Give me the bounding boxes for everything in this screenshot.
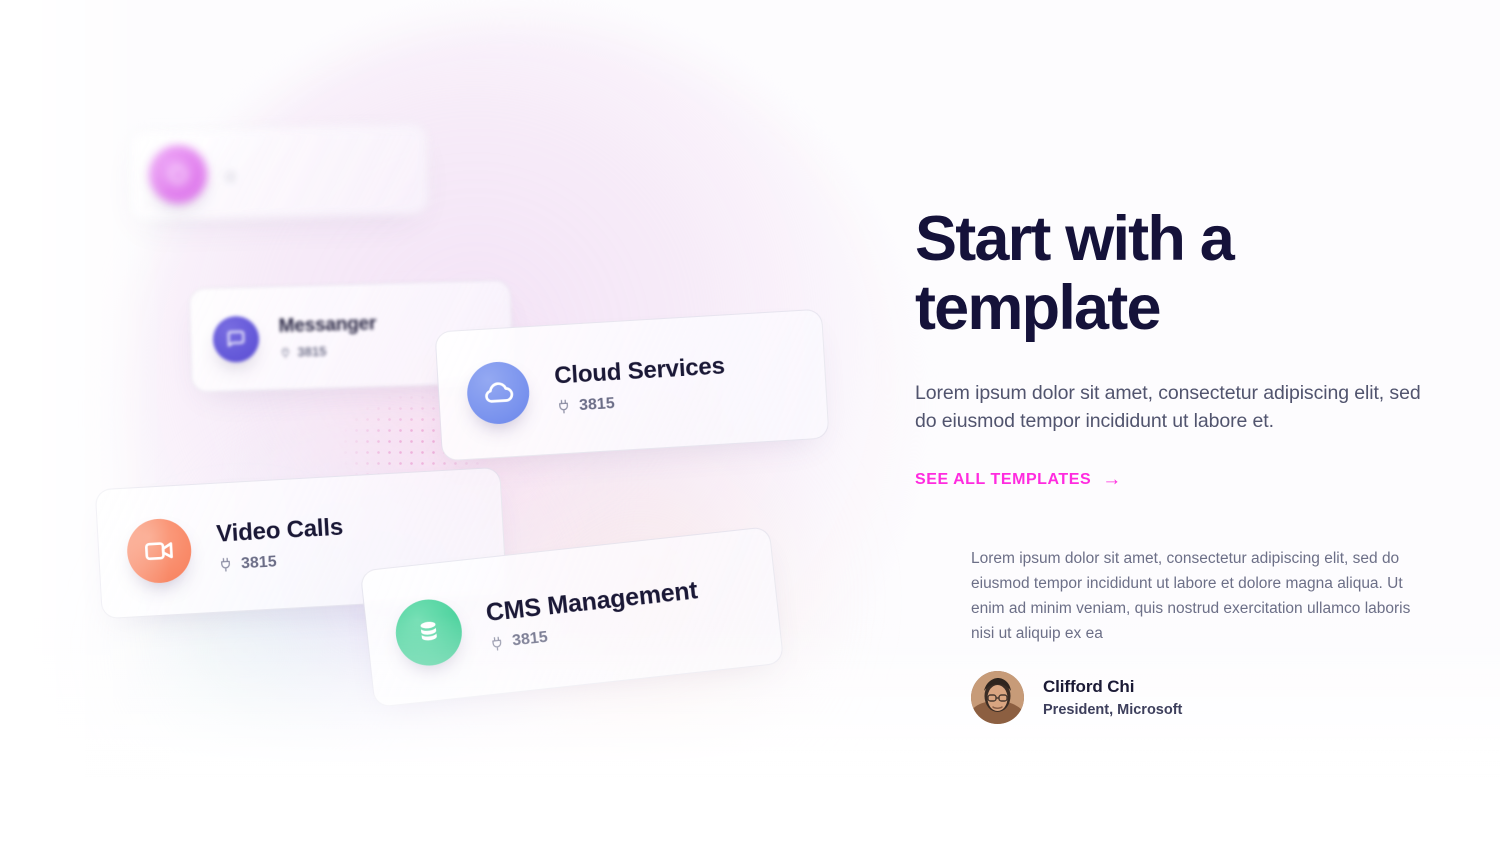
headline-line-1: Start with a <box>915 204 1233 274</box>
author-name: Clifford Chi <box>1043 677 1182 697</box>
plug-icon <box>556 399 572 415</box>
template-card-title: Video Calls <box>216 514 344 549</box>
chat-bubble-icon <box>212 316 259 363</box>
template-card-title: Messanger <box>278 313 376 338</box>
hero-description: Lorem ipsum dolor sit amet, consectetur … <box>915 379 1425 436</box>
hero-section: Messanger 3815 Cloud Services <box>0 0 1500 844</box>
plug-icon <box>218 557 234 573</box>
cloud-icon <box>465 360 531 426</box>
avatar-photo <box>971 671 1024 724</box>
template-card-text: Messanger 3815 <box>278 313 377 361</box>
template-card-text: CMS Management 3815 <box>485 576 702 653</box>
template-card-stack: Messanger 3815 Cloud Services <box>0 0 900 844</box>
testimonial-quote: Lorem ipsum dolor sit amet, consectetur … <box>971 546 1425 646</box>
plug-icon <box>489 635 506 652</box>
template-card-text <box>225 163 244 182</box>
hero-content: Start with a template Lorem ipsum dolor … <box>915 205 1425 724</box>
plug-icon <box>279 347 291 359</box>
headline-line-2: template <box>915 273 1160 343</box>
author-role: President, Microsoft <box>1043 702 1182 718</box>
arrow-right-icon: → <box>1102 470 1122 489</box>
template-card-text: Video Calls 3815 <box>216 514 346 575</box>
template-card-count: 3815 <box>579 395 616 415</box>
template-card-title: Cloud Services <box>554 353 726 391</box>
testimonial-block: Lorem ipsum dolor sit amet, consectetur … <box>915 546 1425 723</box>
avatar <box>971 671 1024 724</box>
template-card-count: 3815 <box>297 344 326 360</box>
cta-label: SEE ALL TEMPLATES <box>915 471 1091 489</box>
author-details: Clifford Chi President, Microsoft <box>1043 677 1182 718</box>
plug-icon <box>225 172 236 183</box>
blurred-icon <box>148 145 207 204</box>
template-card[interactable] <box>127 122 429 221</box>
database-icon <box>392 596 465 669</box>
page-title: Start with a template <box>915 205 1425 344</box>
template-card-count: 3815 <box>511 629 548 651</box>
template-card-meta <box>225 171 244 182</box>
template-card-meta: 3815 <box>279 343 377 361</box>
template-card-meta: 3815 <box>556 388 727 416</box>
template-card-text: Cloud Services 3815 <box>554 353 727 417</box>
testimonial-author: Clifford Chi President, Microsoft <box>971 671 1425 724</box>
template-card-meta: 3815 <box>218 549 346 574</box>
template-card-cloud-services[interactable]: Cloud Services 3815 <box>434 309 829 462</box>
template-card-count: 3815 <box>241 553 278 573</box>
see-all-templates-link[interactable]: SEE ALL TEMPLATES → <box>915 470 1122 489</box>
video-camera-icon <box>125 517 192 584</box>
